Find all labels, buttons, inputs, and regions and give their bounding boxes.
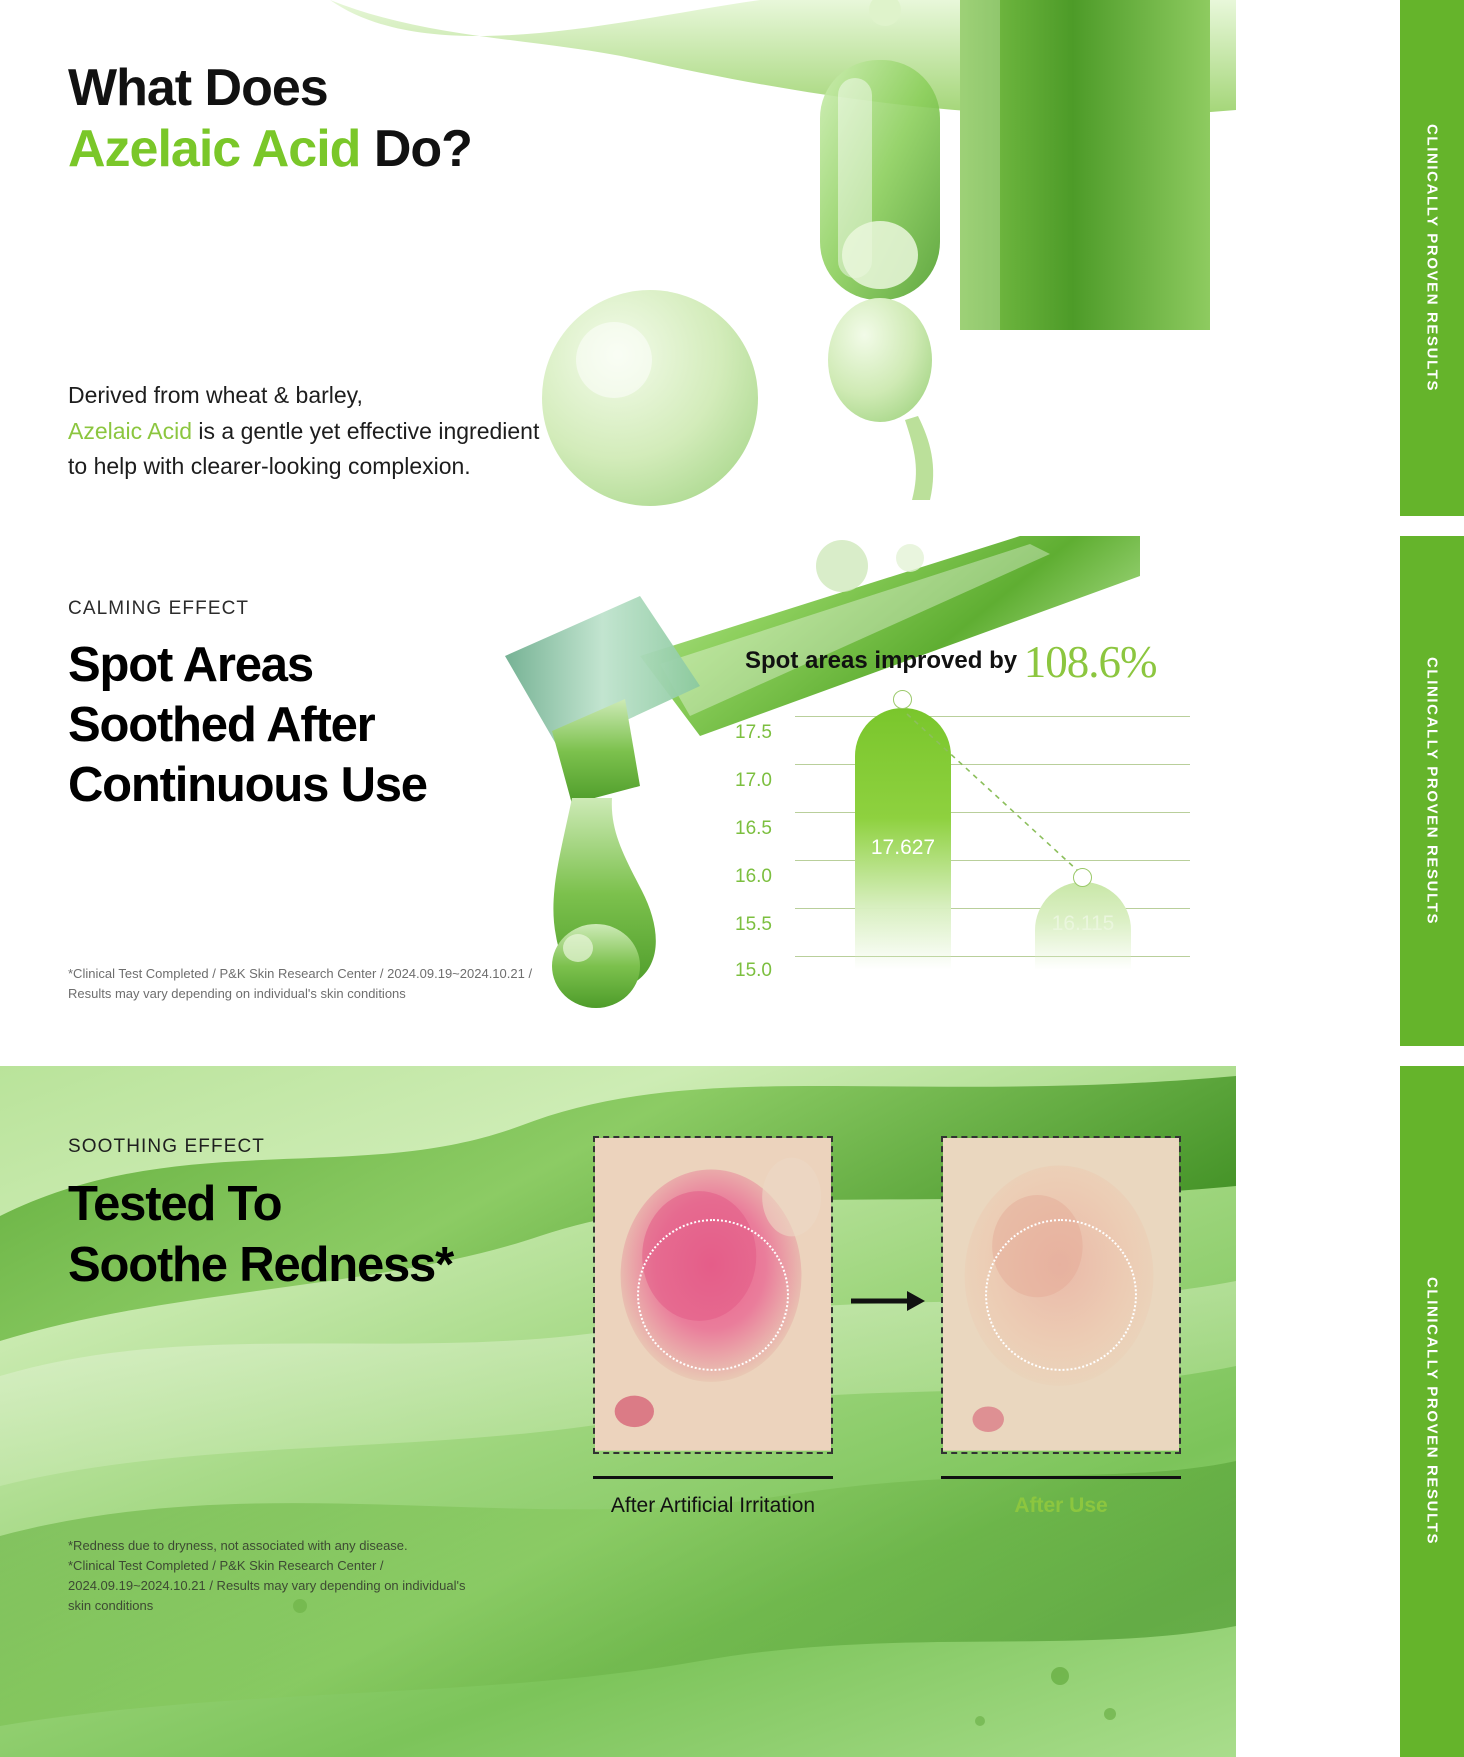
section3-headline: Tested To Soothe Redness*: [68, 1174, 453, 1297]
section3-eyebrow: SOOTHING EFFECT: [68, 1136, 265, 1158]
ribbon-clinically-proven-2: CLINICALLY PROVEN RESULTS: [1400, 536, 1464, 1046]
y-tick-label: 17.5: [735, 722, 791, 744]
ribbon-label: CLINICALLY PROVEN RESULTS: [1424, 124, 1441, 392]
section-what-does-azelaic-acid-do: What Does Azelaic Acid Do? Derived from …: [0, 0, 1236, 516]
marker-after-use: [1073, 868, 1092, 887]
product-detail-page: What Does Azelaic Acid Do? Derived from …: [0, 0, 1464, 1757]
bar-after-use: 16.115: [1035, 882, 1131, 970]
title-rest: Do?: [360, 120, 472, 178]
y-tick-label: 15.5: [735, 914, 791, 936]
y-tick-label: 15.0: [735, 960, 791, 982]
headline-line-2: Soothe Redness*: [68, 1235, 453, 1296]
photo-before-irritation: [593, 1136, 833, 1454]
chart-caption-label: Spot areas improved by: [745, 647, 1017, 674]
arrow-right-icon: [851, 1288, 925, 1314]
headline-line-1: Tested To: [68, 1174, 453, 1235]
section-soothing-effect: SOOTHING EFFECT Tested To Soothe Redness…: [0, 1066, 1236, 1757]
ribbon-clinically-proven-1: CLINICALLY PROVEN RESULTS: [1400, 0, 1464, 516]
ribbon-clinically-proven-3: CLINICALLY PROVEN RESULTS: [1400, 1066, 1464, 1757]
chart-improvement-value: 108.6%: [1024, 637, 1157, 687]
ribbon-label: CLINICALLY PROVEN RESULTS: [1424, 657, 1441, 925]
title-line-2: Azelaic Acid Do?: [68, 119, 472, 180]
footnote-line-1: *Redness due to dryness, not associated …: [68, 1536, 465, 1556]
photo-underline: [941, 1476, 1181, 1479]
headline-line-2: Soothed After: [68, 696, 427, 756]
headline-line-1: Spot Areas: [68, 636, 427, 696]
footnote-line-2: *Clinical Test Completed / P&K Skin Rese…: [68, 1556, 465, 1576]
section3-footnote: *Redness due to dryness, not associated …: [68, 1536, 465, 1617]
page-title: What Does Azelaic Acid Do?: [68, 58, 472, 181]
footnote-line-2: Results may vary depending on individual…: [68, 984, 532, 1004]
y-tick-label: 16.5: [735, 818, 791, 840]
chart-caption: Spot areas improved by 108.6% Spot areas…: [745, 636, 1157, 688]
intro-line-2: Azelaic Acid is a gentle yet effective i…: [68, 414, 539, 450]
section2-eyebrow: CALMING EFFECT: [68, 598, 249, 620]
spot-area-bar-chart: Spot areas improved by 108.6% Spot areas…: [735, 636, 1190, 1021]
photo-underline: [593, 1476, 833, 1479]
headline-line-3: Continuous Use: [68, 756, 427, 816]
intro-line-1: Derived from wheat & barley,: [68, 378, 539, 414]
trend-connector-line: [903, 710, 1093, 885]
photo-after-use: [941, 1136, 1181, 1454]
y-tick-label: 16.0: [735, 866, 791, 888]
footnote-line-3: 2024.09.19~2024.10.21 / Results may vary…: [68, 1576, 465, 1596]
intro-line-2-rest: is a gentle yet effective ingredient: [192, 418, 539, 444]
marker-before-use: [893, 690, 912, 709]
ribbon-label: CLINICALLY PROVEN RESULTS: [1424, 1277, 1441, 1545]
section-calming-effect: CALMING EFFECT Spot Areas Soothed After …: [0, 536, 1236, 1046]
measurement-circle: [637, 1219, 789, 1371]
intro-line-3: to help with clearer-looking complexion.: [68, 449, 539, 485]
footnote-line-4: skin conditions: [68, 1596, 465, 1616]
section2-footnote: *Clinical Test Completed / P&K Skin Rese…: [68, 964, 532, 1003]
intro-accent: Azelaic Acid: [68, 418, 192, 444]
photo-label-after: After Use: [941, 1494, 1181, 1518]
measurement-circle: [985, 1219, 1137, 1371]
title-accent: Azelaic Acid: [68, 120, 360, 178]
photo-label-before: After Artificial Irritation: [593, 1494, 833, 1518]
chart-plot-area: 17.5 17.0 16.5 16.0 15.5 15.0 17.627 16.…: [735, 702, 1190, 970]
y-tick-label: 17.0: [735, 770, 791, 792]
footnote-line-1: *Clinical Test Completed / P&K Skin Rese…: [68, 964, 532, 984]
title-line-1: What Does: [68, 58, 472, 119]
bar-value-label: 16.115: [1035, 912, 1131, 936]
section2-headline: Spot Areas Soothed After Continuous Use: [68, 636, 427, 815]
intro-paragraph: Derived from wheat & barley, Azelaic Aci…: [68, 378, 539, 485]
